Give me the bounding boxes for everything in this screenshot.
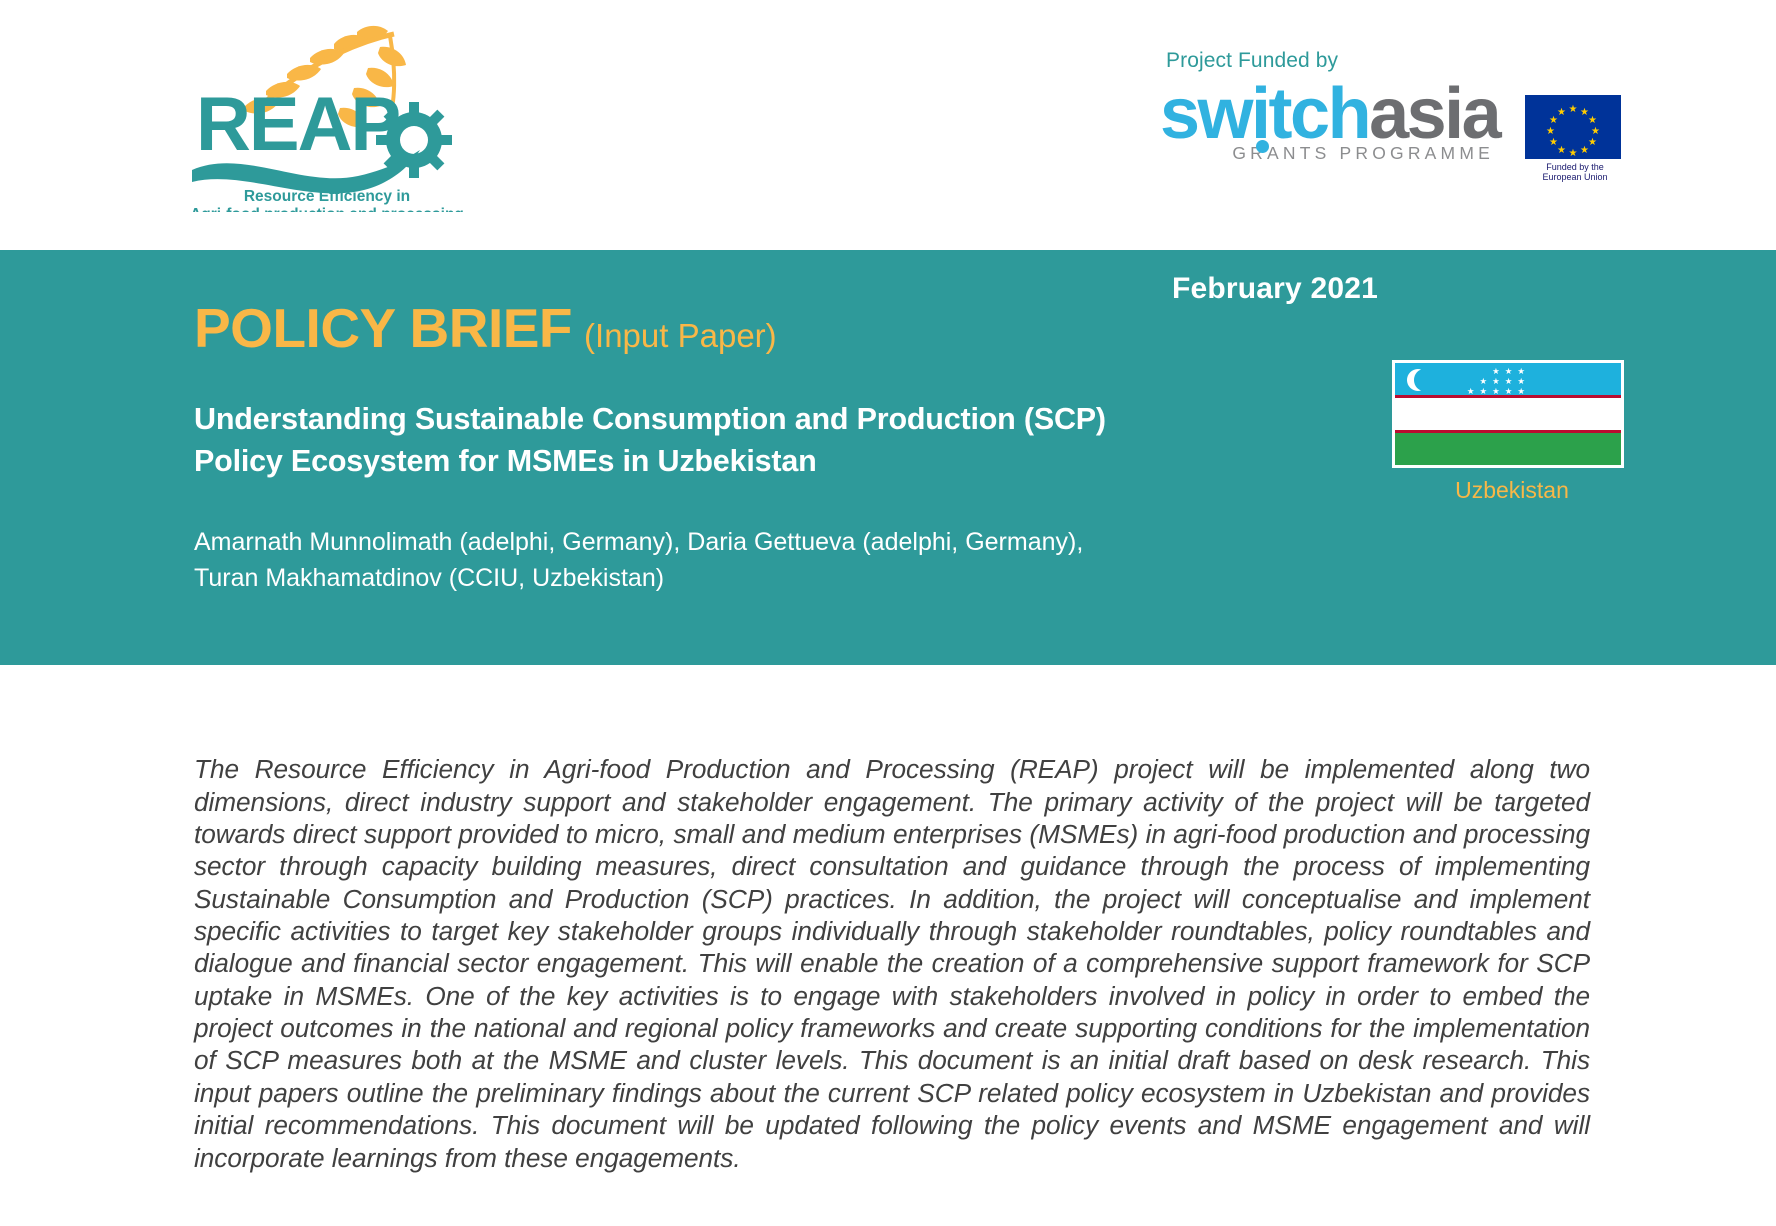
flag-band-blue: ★★★ ★★★★ ★★★★★ [1395, 363, 1621, 395]
gear-icon [376, 102, 452, 178]
eu-flag-icon: ★ ★ ★ ★ ★ ★ ★ ★ ★ ★ ★ ★ [1525, 95, 1621, 159]
switchasia-wordmark: switchasia [1160, 81, 1496, 147]
reap-tagline-line2: Agri-food production and processing [190, 206, 464, 212]
eu-caption: Funded by the European Union [1525, 162, 1625, 183]
eu-caption-line1: Funded by the [1525, 162, 1625, 172]
reap-wordmark: REAP [196, 82, 399, 167]
policy-brief-subtype: (Input Paper) [584, 317, 777, 354]
crescent-icon [1407, 369, 1429, 391]
reap-tagline-line1: Resource Efficiency in [244, 188, 410, 205]
uzbekistan-flag-icon: ★★★ ★★★★ ★★★★★ [1392, 360, 1624, 468]
policy-brief-heading: POLICY BRIEF(Input Paper) [194, 296, 1374, 360]
switchasia-asia-text: asia [1369, 74, 1499, 154]
flag-band-green [1395, 433, 1621, 465]
eu-funding-emblem: ★ ★ ★ ★ ★ ★ ★ ★ ★ ★ ★ ★ Funded by the Eu… [1525, 95, 1625, 183]
main-content: The Resource Efficiency in Agri-food Pro… [0, 665, 1776, 1174]
flag-stars: ★★★ ★★★★ ★★★★★ [1441, 367, 1525, 397]
authors-list: Amarnath Munnolimath (adelphi, Germany),… [194, 525, 1334, 596]
funding-block: Project Funded by switchasia GRANTS PROG… [1160, 50, 1560, 164]
authors-line2: Turan Makhamatdinov (CCIU, Uzbekistan) [194, 561, 1334, 597]
project-funded-by-label: Project Funded by [1166, 50, 1560, 71]
country-name: Uzbekistan [1392, 477, 1632, 504]
abstract-paragraph: The Resource Efficiency in Agri-food Pro… [194, 753, 1590, 1174]
country-block: ★★★ ★★★★ ★★★★★ Uzbekistan [1392, 360, 1632, 504]
header-logo-bar: REAP Resource Efficiency [0, 0, 1776, 250]
flag-band-white [1395, 398, 1621, 430]
banner-text-column: POLICY BRIEF(Input Paper) Understanding … [194, 250, 1374, 596]
switchasia-dot-icon [1256, 140, 1269, 153]
document-title-line2: Policy Ecosystem for MSMEs in Uzbekistan [194, 440, 1324, 482]
title-banner: February 2021 POLICY BRIEF(Input Paper) … [0, 250, 1776, 665]
authors-line1: Amarnath Munnolimath (adelphi, Germany),… [194, 528, 1083, 556]
policy-brief-label: POLICY BRIEF [194, 297, 572, 359]
reap-logo: REAP Resource Efficiency [182, 22, 472, 212]
document-title-line1: Understanding Sustainable Consumption an… [194, 398, 1324, 440]
switchasia-logo: switchasia GRANTS PROGRAMME [1160, 81, 1560, 164]
document-title: Understanding Sustainable Consumption an… [194, 398, 1324, 482]
eu-caption-line2: European Union [1525, 172, 1625, 182]
